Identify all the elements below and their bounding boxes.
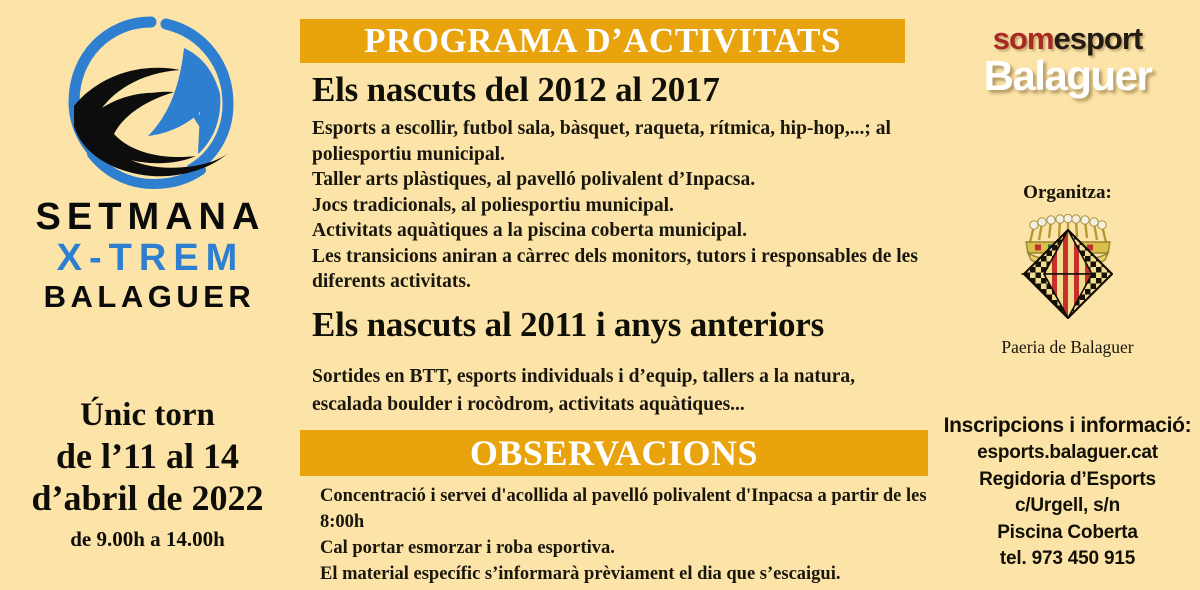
section-body-2012-2017: Esports a escollir, futbol sala, bàsquet…: [312, 116, 927, 295]
body-line: Taller arts plàstiques, al pavelló poliv…: [312, 167, 927, 193]
somesport-balaguer-text: Balaguer: [935, 54, 1200, 98]
left-column: SETMANA X-TREM BALAGUER Únic torn de l’1…: [0, 0, 295, 590]
organitza-label: Organitza:: [935, 182, 1200, 204]
body-line: El material específic s’informarà prèvia…: [320, 561, 940, 587]
programa-banner: PROGRAMA D’ACTIVITATS: [300, 19, 905, 63]
somesport-esport-text: esport: [1054, 21, 1143, 56]
observacions-body: Concentració i servei d'acollida al pave…: [320, 483, 940, 590]
turn-line-1: Únic torn: [0, 396, 295, 435]
body-line: Activitats aquàtiques a la piscina cober…: [312, 218, 927, 244]
contact-block: Inscripcions i informació: esports.balag…: [935, 411, 1200, 573]
section-body-2011: Sortides en BTT, esports individuals i d…: [312, 363, 912, 419]
poster-root: SETMANA X-TREM BALAGUER Únic torn de l’1…: [0, 0, 1200, 590]
contact-department: Regidoria d’Esports: [935, 467, 1200, 494]
paeria-balaguer-coat-of-arms-icon: [935, 212, 1200, 334]
observacions-banner: OBSERVACIONS: [300, 430, 928, 476]
contact-website[interactable]: esports.balaguer.cat: [935, 440, 1200, 467]
somesport-som-text: som: [993, 21, 1054, 56]
turn-line-4: de 9.00h a 14.00h: [0, 524, 295, 556]
body-line: Concentració i servei d'acollida al pave…: [320, 483, 940, 535]
turn-line-2: de l’11 al 14: [0, 435, 295, 477]
brand-line-xtrem: X-TREM: [6, 239, 295, 277]
somesport-balaguer-logo: somesport Balaguer: [935, 22, 1200, 120]
body-line: Cal portar esmorzar i roba esportiva.: [320, 535, 940, 561]
somesport-wordmark: somesport: [935, 22, 1200, 56]
brand-line-setmana: SETMANA: [6, 198, 295, 236]
body-line: Sortides en BTT, esports individuals i d…: [312, 363, 912, 419]
body-line: Esports a escollir, futbol sala, bàsquet…: [312, 116, 927, 167]
contact-venue: Piscina Coberta: [935, 520, 1200, 547]
body-line: Jocs tradicionals, al poliesportiu munic…: [312, 193, 927, 219]
brand-wordmark: SETMANA X-TREM BALAGUER: [0, 198, 295, 312]
contact-street: c/Urgell, s/n: [935, 493, 1200, 520]
contact-heading: Inscripcions i informació:: [935, 411, 1200, 440]
section-title-2012-2017: Els nascuts del 2012 al 2017: [312, 70, 720, 110]
contact-phone[interactable]: tel. 973 450 915: [935, 546, 1200, 573]
turn-line-3: d’abril de 2022: [0, 477, 295, 519]
brand-line-balaguer: BALAGUER: [4, 281, 295, 312]
setmana-xtrem-logo-icon: [62, 14, 240, 194]
center-column: PROGRAMA D’ACTIVITATS Els nascuts del 20…: [300, 0, 935, 590]
section-title-2011: Els nascuts al 2011 i anys anteriors: [312, 305, 824, 345]
body-line: Les transicions aniran a càrrec dels mon…: [312, 244, 927, 295]
turn-dates-block: Únic torn de l’11 al 14 d’abril de 2022 …: [0, 396, 295, 555]
right-column: somesport Balaguer Organitza:: [935, 0, 1200, 590]
paeria-caption: Paeria de Balaguer: [935, 337, 1200, 358]
